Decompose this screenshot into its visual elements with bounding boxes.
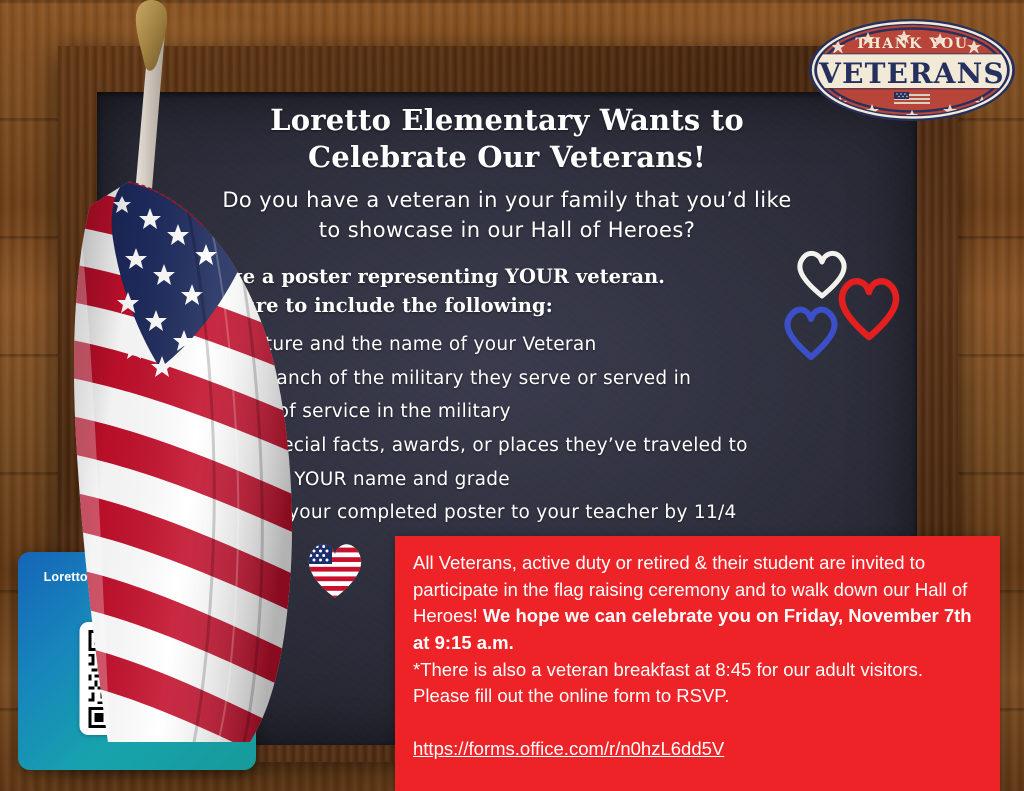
us-flag-heart-icon: [303, 538, 367, 600]
badge-top-text: THANK YOU: [855, 36, 968, 52]
badge-main-text: VETERANS: [818, 57, 1005, 90]
rsvp-form-link[interactable]: https://forms.office.com/r/n0hzL6dd5V: [413, 736, 724, 763]
qr-code-holder[interactable]: [80, 622, 195, 735]
rsvp-callout-box: All Veterans, active duty or retired & t…: [395, 536, 1000, 791]
qr-code-icon[interactable]: [88, 630, 186, 728]
poster-subtitle: Do you have a veteran in your family tha…: [97, 186, 917, 246]
list-item: years of service in the military: [219, 395, 917, 429]
callout-paragraph-2: *There is also a veteran breakfast at 8:…: [413, 657, 978, 710]
heart-outline-red-icon: [833, 274, 905, 342]
title-line-1: Loretto Elementary Wants to: [135, 102, 879, 139]
callout-paragraph-1: All Veterans, active duty or retired & t…: [413, 550, 978, 657]
qr-caption-line-1: Loretto Elementary's Veteran's Day: [32, 568, 242, 605]
title-line-2: Celebrate Our Veterans!: [135, 139, 879, 176]
callout-text-bold: We hope we can celebrate you on Friday, …: [413, 605, 972, 653]
list-item: the branch of the military they serve or…: [219, 362, 917, 396]
qr-caption-line-2: Celebration: [32, 605, 242, 623]
subtitle-line-2: to showcase in our Hall of Heroes?: [121, 216, 893, 246]
page-title: Loretto Elementary Wants to Celebrate Ou…: [97, 102, 917, 176]
thank-you-veterans-badge: THANK YOU VETERANS: [808, 18, 1016, 122]
list-item: turn in your completed poster to your te…: [219, 496, 917, 530]
list-item: include YOUR name and grade: [219, 463, 917, 497]
hearts-decoration: [780, 248, 910, 360]
subtitle-line-1: Do you have a veteran in your family tha…: [121, 186, 893, 216]
list-item: any special facts, awards, or places the…: [219, 429, 917, 463]
qr-code-card[interactable]: Loretto Elementary's Veteran's Day Celeb…: [18, 552, 256, 770]
qr-card-caption: Loretto Elementary's Veteran's Day Celeb…: [18, 552, 256, 623]
